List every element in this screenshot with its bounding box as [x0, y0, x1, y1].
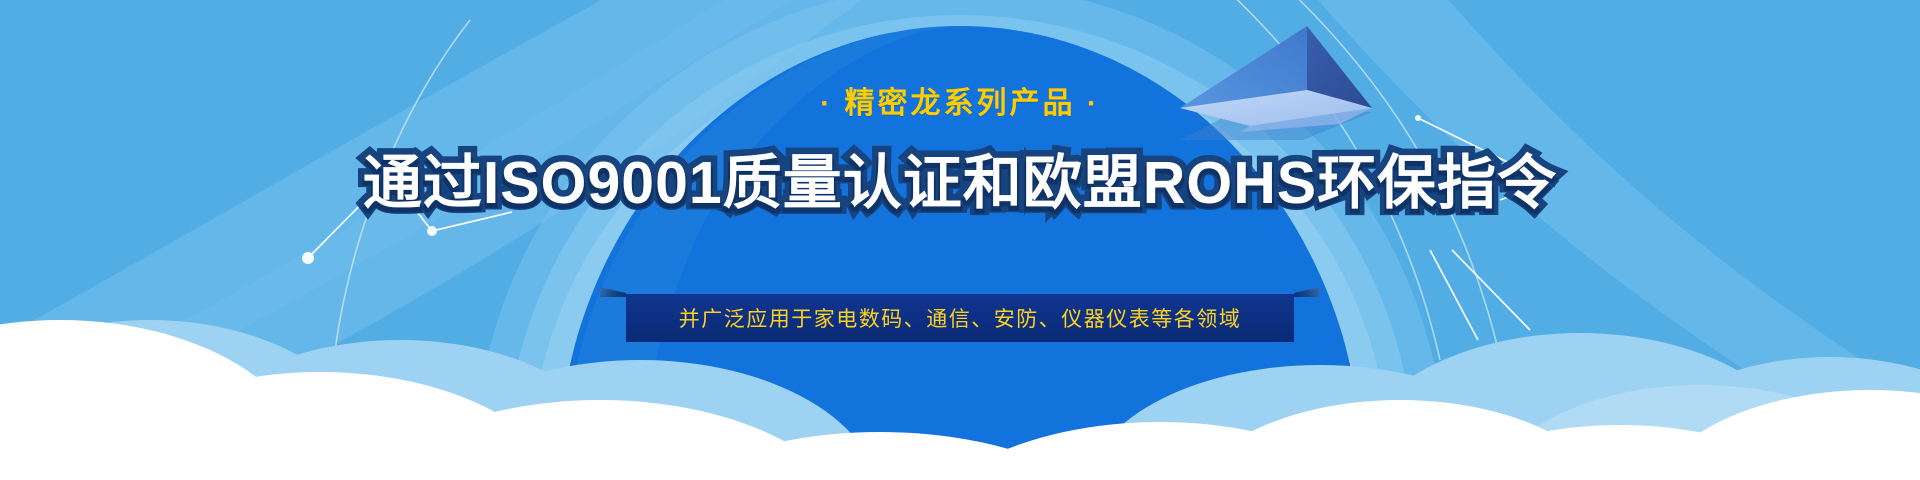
promo-banner: · 精密龙系列产品 · 通过ISO9001质量认证和欧盟ROHS环保指令 通过I… [0, 0, 1920, 480]
banner-background-artwork [0, 0, 1920, 480]
